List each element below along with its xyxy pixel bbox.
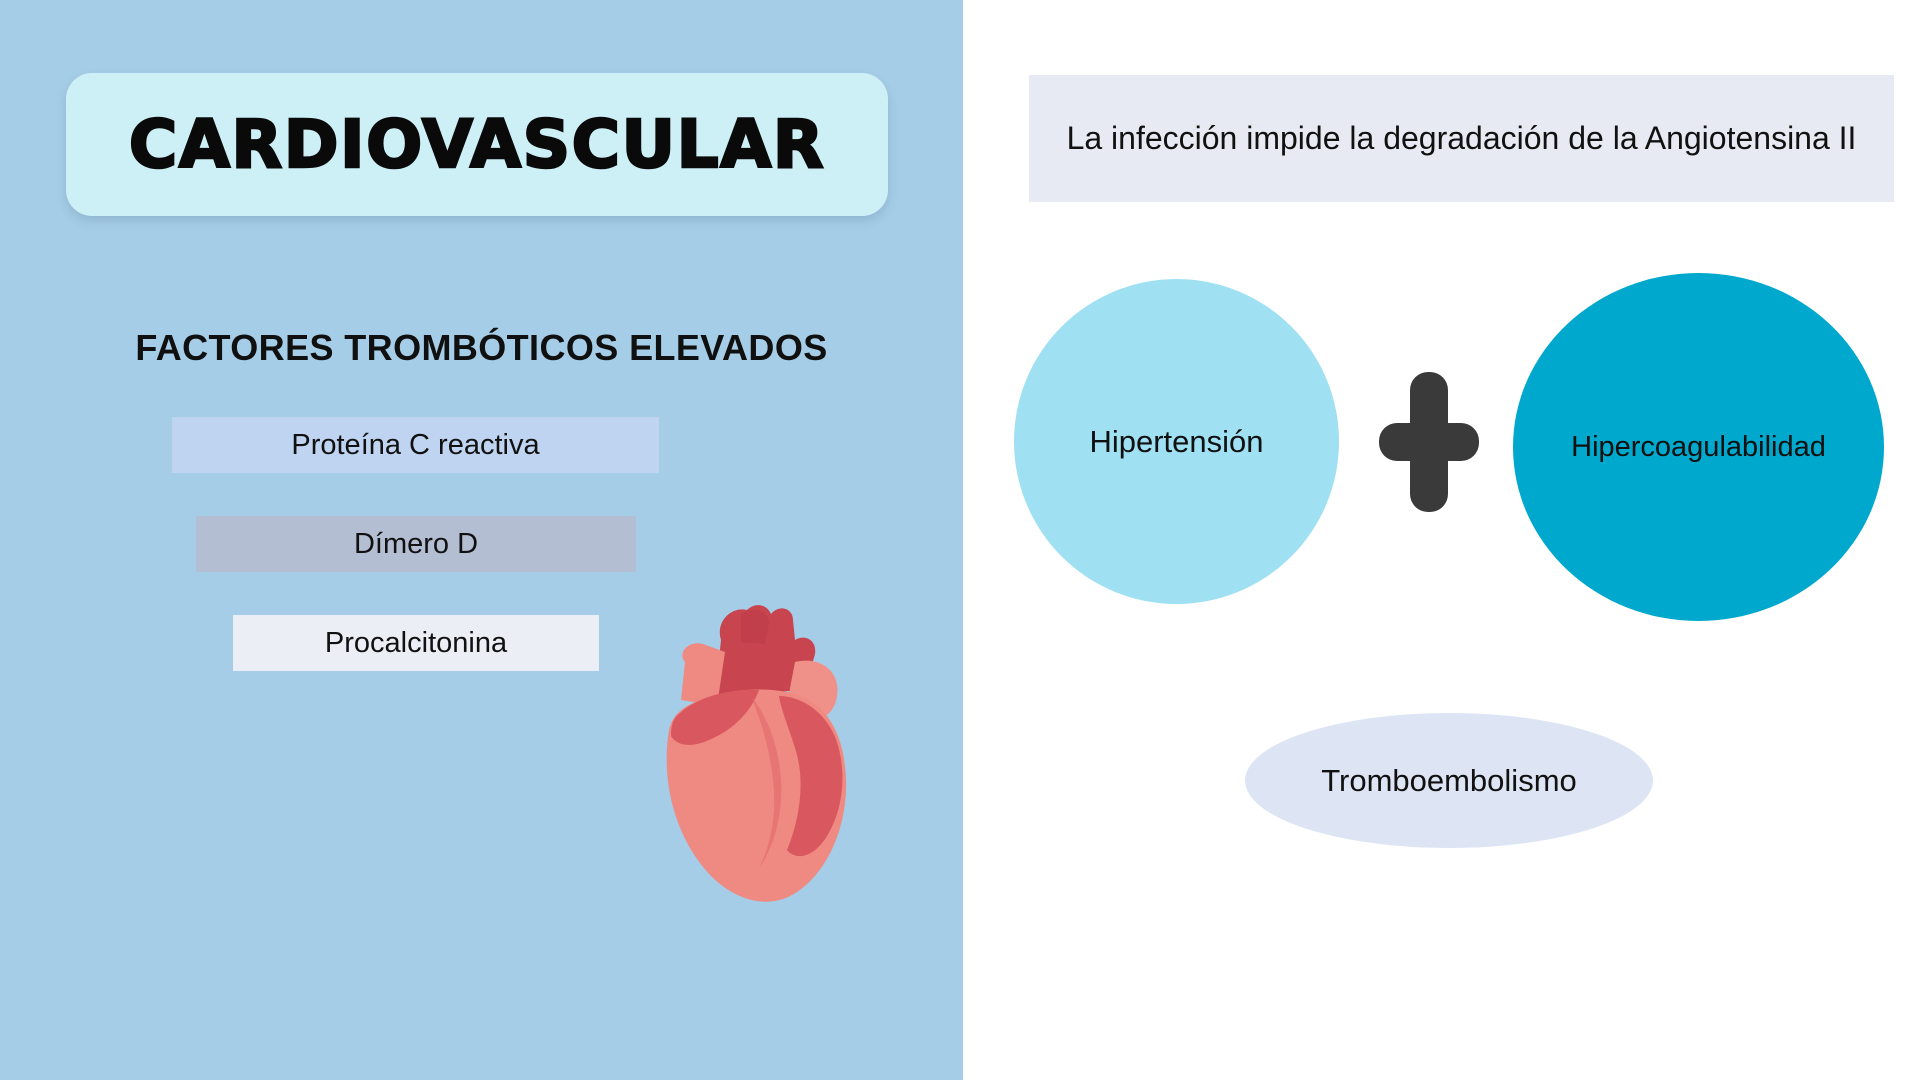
bubble-hipercoagulabilidad: Hipercoagulabilidad <box>1513 273 1884 621</box>
bubble-tromboembolismo: Tromboembolismo <box>1245 713 1653 848</box>
bubble-label: Hipercoagulabilidad <box>1571 431 1826 464</box>
anatomical-heart-icon <box>655 600 870 915</box>
plus-icon-horizontal-bar <box>1379 423 1479 461</box>
slide-canvas: CARDIOVASCULAR FACTORES TROMBÓTICOS ELEV… <box>0 0 1919 1080</box>
bubble-label: Hipertensión <box>1089 424 1263 460</box>
factor-chip-label: Dímero D <box>354 528 478 561</box>
factors-section-heading: FACTORES TROMBÓTICOS ELEVADOS <box>0 327 963 369</box>
bubble-hipertension: Hipertensión <box>1014 279 1339 604</box>
title-card: CARDIOVASCULAR <box>66 73 888 216</box>
left-panel: CARDIOVASCULAR FACTORES TROMBÓTICOS ELEV… <box>0 0 963 1080</box>
plus-icon <box>1379 372 1479 512</box>
infection-banner-text: La infección impide la degradación de la… <box>1067 116 1857 161</box>
factor-chip-proteina-c-reactiva: Proteína C reactiva <box>172 417 659 473</box>
bubble-label: Tromboembolismo <box>1321 763 1577 799</box>
infection-banner: La infección impide la degradación de la… <box>1029 75 1894 202</box>
factor-chip-label: Procalcitonina <box>325 627 507 660</box>
page-title: CARDIOVASCULAR <box>129 106 825 183</box>
factor-chip-procalcitonina: Procalcitonina <box>233 615 599 671</box>
factor-chip-dimero-d: Dímero D <box>196 516 636 572</box>
factor-chip-label: Proteína C reactiva <box>291 429 539 462</box>
